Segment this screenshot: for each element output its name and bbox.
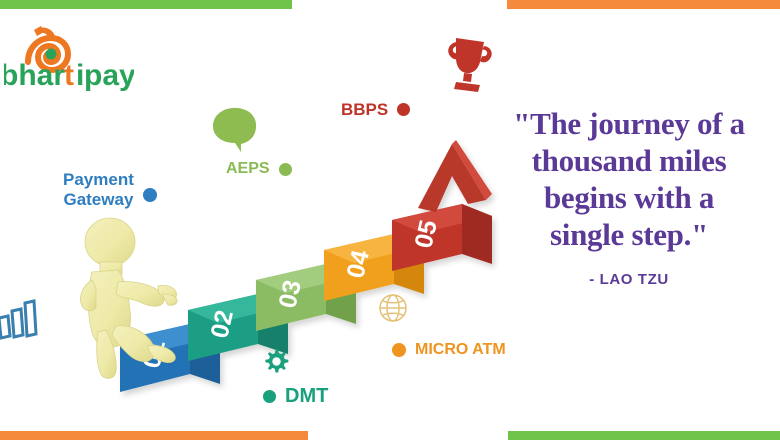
promo-banner: bhar t i pay bbox=[0, 0, 780, 440]
trophy-icon bbox=[440, 32, 498, 99]
bottom-right-accent-bar bbox=[508, 431, 780, 440]
globe-icon bbox=[377, 292, 409, 329]
climbing-person-figure bbox=[62, 214, 202, 382]
svg-text:t: t bbox=[64, 59, 74, 92]
quote-author: - LAO TZU bbox=[470, 271, 780, 288]
service-label-text: MICRO ATM bbox=[415, 341, 506, 360]
service-label-text: BBPS bbox=[341, 100, 388, 120]
service-dot-micro-atm bbox=[392, 343, 406, 357]
service-dot-dmt bbox=[263, 390, 276, 403]
quote-block: "The journey of a thousand miles begins … bbox=[470, 105, 780, 288]
service-label-text: DMT bbox=[285, 385, 328, 408]
top-right-accent-bar bbox=[507, 0, 780, 9]
service-dot-bbps bbox=[397, 103, 410, 116]
service-dot-aeps bbox=[279, 163, 292, 176]
top-left-accent-bar bbox=[0, 0, 292, 9]
service-label-bbps[interactable]: BBPS bbox=[341, 100, 410, 120]
bottom-left-accent-bar bbox=[0, 431, 308, 440]
svg-text:bhar: bhar bbox=[4, 59, 65, 92]
service-label-text: AEPS bbox=[226, 160, 270, 179]
service-label-text: Payment Gateway bbox=[63, 170, 134, 209]
svg-text:pay: pay bbox=[84, 59, 134, 92]
service-label-dmt[interactable]: DMT bbox=[263, 385, 328, 408]
service-label-aeps[interactable]: AEPS bbox=[226, 160, 292, 179]
bhartipay-logo[interactable]: bhar t i pay bbox=[4, 22, 134, 92]
service-label-micro-atm[interactable]: MICRO ATM bbox=[392, 341, 506, 360]
service-label-payment-gateway[interactable]: Payment Gateway bbox=[63, 170, 157, 209]
service-dot-payment-gateway bbox=[143, 188, 157, 202]
bar-chart-icon bbox=[0, 292, 38, 345]
gear-icon bbox=[262, 347, 292, 382]
quote-text: "The journey of a thousand miles begins … bbox=[470, 105, 780, 253]
